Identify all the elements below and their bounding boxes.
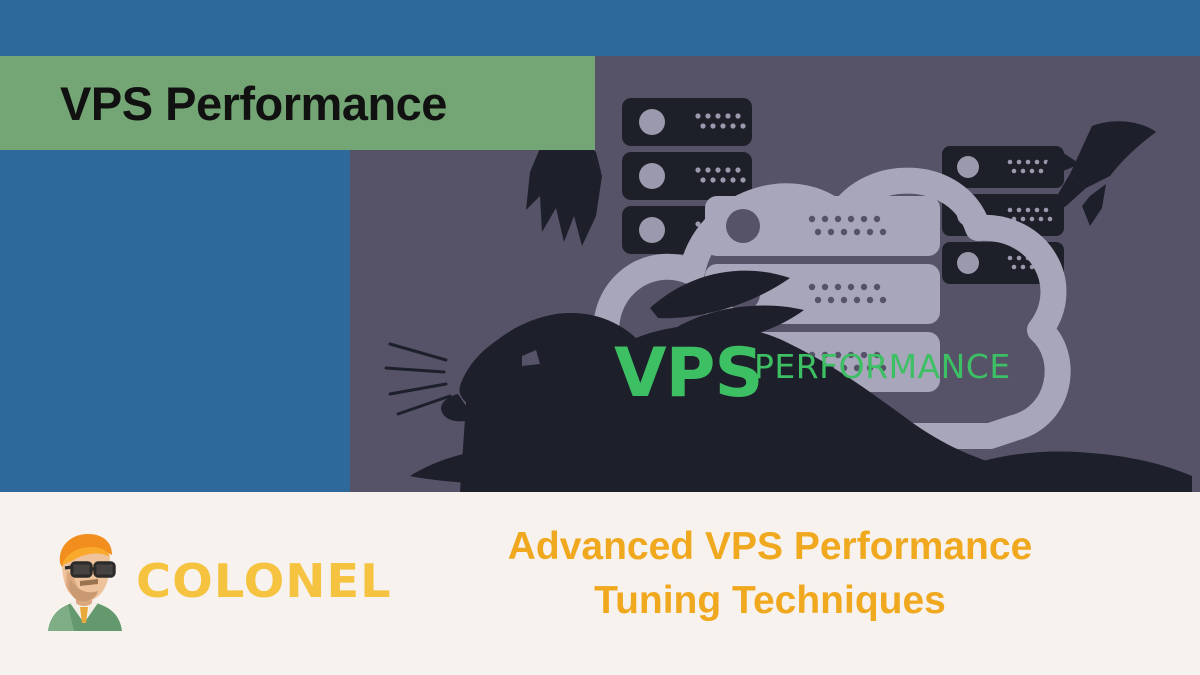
brand-logo[interactable]: COLONEL [40,526,382,636]
hero-banner: VPS Performance [0,56,595,150]
post-title: Advanced VPS Performance Tuning Techniqu… [400,520,1140,628]
colonel-mascot-icon [40,531,128,631]
brand-name-text: COLONEL [136,554,392,608]
footer-section: COLONEL Advanced VPS Performance Tuning … [0,492,1200,675]
hero-banner-label: VPS Performance [0,80,447,127]
svg-text:PERFORMANCE: PERFORMANCE [754,347,1011,386]
featured-image-card: VPS PERFORMANCE VPS Performance [0,0,1200,675]
hero-section: VPS PERFORMANCE VPS Performance [0,0,1200,492]
post-title-line-2: Tuning Techniques [400,574,1140,628]
svg-text:VPS: VPS [614,334,762,413]
post-title-line-1: Advanced VPS Performance [400,520,1140,574]
hero-blue-top-bar [0,0,1200,56]
